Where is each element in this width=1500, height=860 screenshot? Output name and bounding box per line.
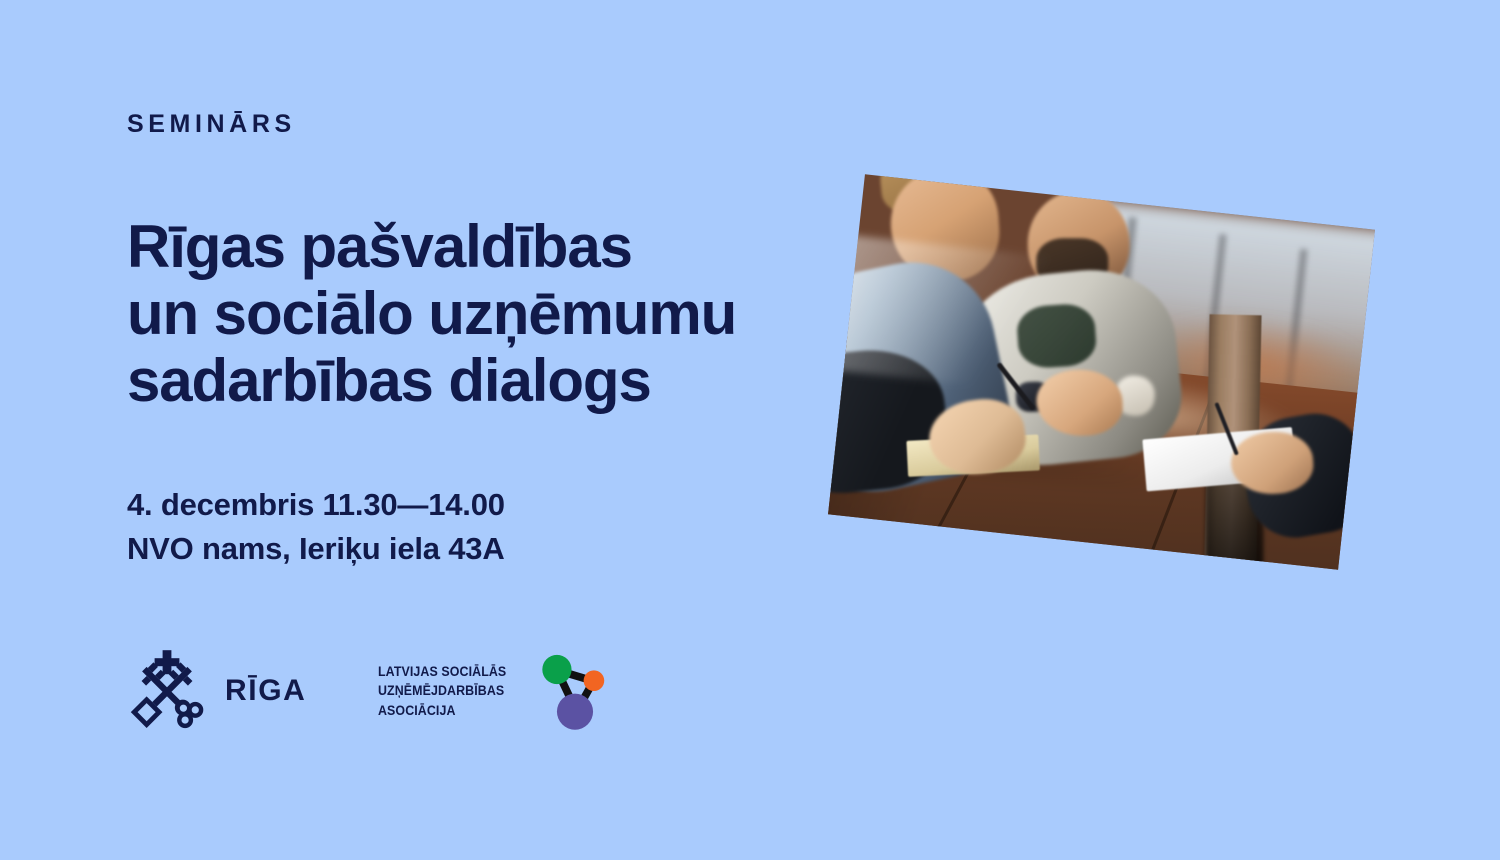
- headline-line-1: Rīgas pašvaldības: [127, 213, 827, 280]
- logo-row: RĪGA LATVIJAS SOCIĀLĀS UZŅĒMĒJDARBĪBAS A…: [127, 645, 618, 737]
- page-title: Rīgas pašvaldības un sociālo uzņēmumu sa…: [127, 213, 827, 415]
- network-nodes-icon: [532, 645, 618, 737]
- lsua-logo: LATVIJAS SOCIĀLĀS UZŅĒMĒJDARBĪBAS ASOCIĀ…: [378, 645, 617, 737]
- photo-content: [828, 174, 1375, 569]
- lsua-line-3: ASOCIĀCIJA: [378, 701, 506, 720]
- headline-line-2: un sociālo uzņēmumu: [127, 280, 827, 347]
- node-purple: [557, 694, 593, 730]
- meeting-photo: [828, 174, 1375, 569]
- poster-canvas: SEMINĀRS Rīgas pašvaldības un sociālo uz…: [0, 0, 1500, 860]
- riga-coat-of-arms-icon: [127, 647, 207, 735]
- lsua-wordmark: LATVIJAS SOCIĀLĀS UZŅĒMĒJDARBĪBAS ASOCIĀ…: [378, 662, 506, 719]
- node-green: [542, 655, 571, 684]
- riga-wordmark: RĪGA: [225, 676, 306, 706]
- riga-logo: RĪGA: [127, 647, 306, 735]
- node-orange: [583, 670, 604, 691]
- headline-line-3: sadarbības dialogs: [127, 347, 827, 414]
- event-datetime: 4. decembris 11.30—14.00: [127, 483, 827, 527]
- event-details: 4. decembris 11.30—14.00 NVO nams, Ieriķ…: [127, 483, 827, 571]
- lsua-line-2: UZŅĒMĒJDARBĪBAS: [378, 681, 506, 700]
- lsua-line-1: LATVIJAS SOCIĀLĀS: [378, 662, 506, 681]
- eyebrow-label: SEMINĀRS: [127, 112, 827, 137]
- text-column: SEMINĀRS Rīgas pašvaldības un sociālo uz…: [127, 112, 827, 571]
- event-location: NVO nams, Ieriķu iela 43A: [127, 527, 827, 571]
